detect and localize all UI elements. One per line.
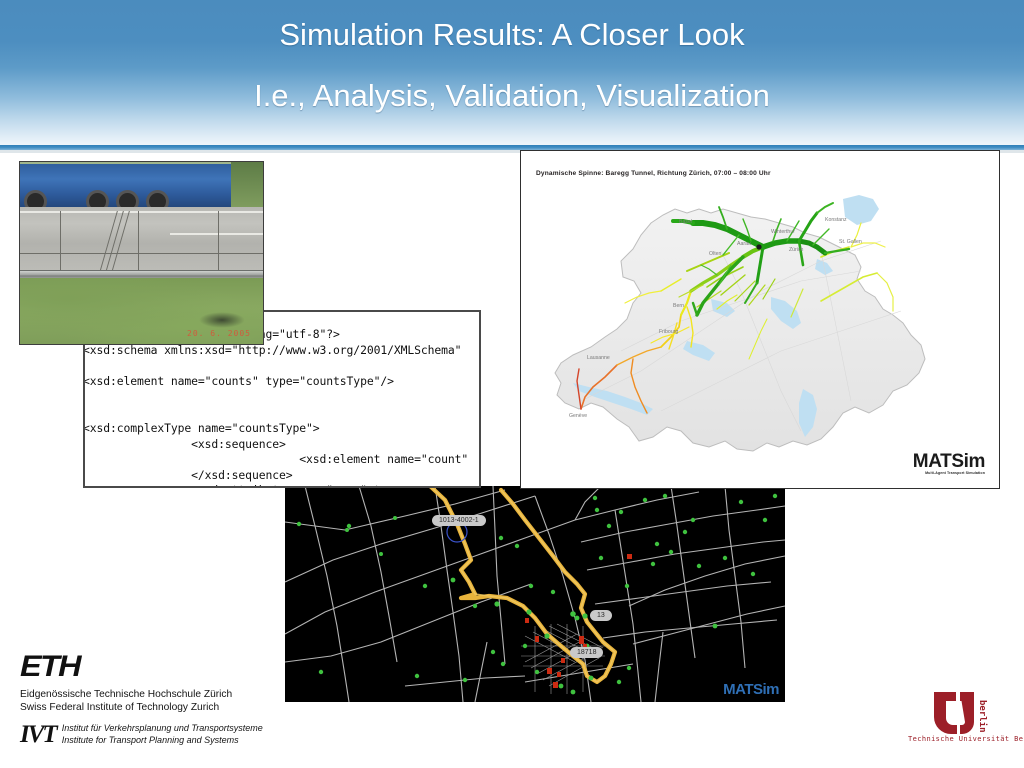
svg-text:Olten: Olten <box>709 251 722 257</box>
pavement-seam <box>20 253 263 254</box>
svg-text:Bern: Bern <box>673 303 684 309</box>
eth-name-en: Swiss Federal Institute of Technology Zu… <box>20 701 232 714</box>
page-title-line-2: I.e., Analysis, Validation, Visualizatio… <box>0 78 1024 114</box>
lake-constance <box>843 195 879 225</box>
xsd-code-text: <?xml version="1.0" encoding="utf-8"?> <… <box>83 327 468 488</box>
highway-loop-detector-photo: 20. 6. 2005 <box>19 161 264 345</box>
map-caption: Dynamische Spinne: Baregg Tunnel, Richtu… <box>536 170 771 177</box>
svg-text:Basel: Basel <box>679 219 692 225</box>
agents-red <box>525 554 632 688</box>
link-label[interactable]: 13 <box>590 610 612 621</box>
matsim-network-visualizer: 1013-4002-1 13 18718 MATSim <box>285 486 785 702</box>
swiss-spider-map-panel: Basel Olten Aarau Winterthur Zürich Kons… <box>520 150 1000 489</box>
link-label[interactable]: 18718 <box>570 647 603 658</box>
link-label[interactable]: 1013-4002-1 <box>432 515 486 526</box>
ivt-wordmark: IVT <box>20 722 56 747</box>
photo-timestamp-overlay: 20. 6. 2005 <box>187 329 251 338</box>
svg-text:Genève: Genève <box>569 413 587 419</box>
matsim-logo-subtitle: Multi-Agent Transport Simulation <box>913 472 985 476</box>
matsim-logo-map: MATSim Multi-Agent Transport Simulation <box>913 452 985 476</box>
svg-text:Konstanz: Konstanz <box>825 217 847 223</box>
pavement-seam <box>60 211 61 273</box>
ivt-name-en: Institute for Transport Planning and Sys… <box>62 735 263 747</box>
tu-berlin-caption: Technische Universität Berlin <box>908 735 1012 743</box>
lane-marking <box>170 233 264 235</box>
svg-text:Fribourg: Fribourg <box>659 329 678 335</box>
photo-roadside-grass-right <box>231 162 263 207</box>
svg-text:Zürich: Zürich <box>789 247 804 253</box>
ivt-name-de: Institut für Verkehrsplanung und Transpo… <box>62 723 263 735</box>
svg-text:St. Gallen: St. Gallen <box>839 239 862 245</box>
pavement-seam <box>138 211 139 273</box>
matsim-logo-text: MATSim <box>913 452 985 471</box>
svg-text:Winterthur: Winterthur <box>771 229 795 235</box>
ivt-logo: IVT Institut für Verkehrsplanung und Tra… <box>20 722 263 747</box>
tu-berlin-mark: berlin <box>908 686 1012 734</box>
svg-text:Aarau: Aarau <box>737 241 751 247</box>
tu-berlin-glyph: berlin <box>908 686 1012 734</box>
lane-marking <box>20 211 263 213</box>
photo-truck <box>19 164 246 209</box>
eth-name-de: Eidgenössische Technische Hochschule Zür… <box>20 688 232 701</box>
pavement-seam <box>218 211 219 273</box>
eth-wordmark: ETH <box>20 652 249 682</box>
svg-text:Lausanne: Lausanne <box>587 355 610 361</box>
tu-berlin-logo: berlin Technische Universität Berlin <box>908 686 1012 743</box>
matsim-logo-network: MATSim <box>723 681 779 698</box>
tu-berlin-side-text: berlin <box>977 700 988 733</box>
page-title-line-1: Simulation Results: A Closer Look <box>0 17 1024 53</box>
eth-zurich-logo: ETH Eidgenössische Technische Hochschule… <box>20 652 232 714</box>
photo-debris <box>199 312 245 328</box>
origin-marker-baregg <box>756 244 761 249</box>
photo-roadway <box>20 207 263 273</box>
network-svg <box>285 486 785 702</box>
swiss-map-svg: Basel Olten Aarau Winterthur Zürich Kons… <box>521 151 999 488</box>
